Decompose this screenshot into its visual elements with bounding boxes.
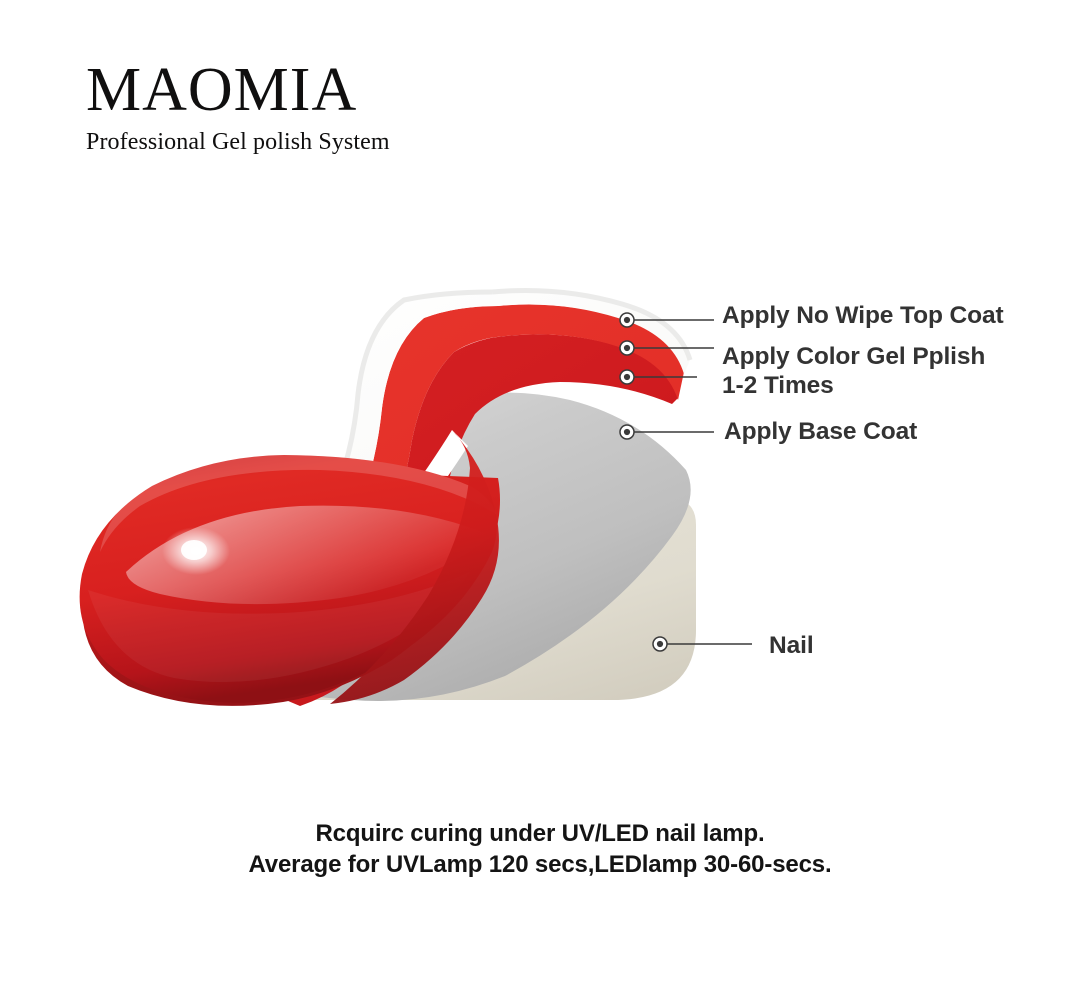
layer-base-coat [250, 392, 691, 701]
callout-markers [620, 313, 667, 651]
callout-label-times: 1-2 Times [722, 372, 834, 400]
curing-instructions: Rcquirc curing under UV/LED nail lamp. A… [0, 818, 1080, 880]
callout-label-color-gel: Apply Color Gel Pplish [722, 343, 985, 371]
brand-block: MAOMIA Professional Gel polish System [86, 58, 506, 156]
layer-top-coat [212, 291, 690, 673]
layer-nail [300, 498, 696, 700]
layer-color-gel-light [232, 305, 684, 691]
marker-top-coat [620, 313, 634, 327]
curing-instructions-line-1: Rcquirc curing under UV/LED nail lamp. [0, 818, 1080, 849]
brand-tagline: Professional Gel polish System [86, 128, 506, 156]
polished-nail-body [80, 430, 500, 706]
curing-instructions-line-2: Average for UVLamp 120 secs,LEDlamp 30-6… [0, 849, 1080, 880]
callout-label-nail: Nail [769, 632, 814, 660]
layer-color-gel-dark [262, 334, 678, 706]
brand-name: MAOMIA [86, 58, 506, 122]
callout-label-top-coat: Apply No Wipe Top Coat [722, 302, 1004, 330]
marker-times [620, 370, 634, 384]
marker-base-coat [620, 425, 634, 439]
marker-nail [653, 637, 667, 651]
marker-color-gel [620, 341, 634, 355]
callout-label-base-coat: Apply Base Coat [724, 418, 917, 446]
